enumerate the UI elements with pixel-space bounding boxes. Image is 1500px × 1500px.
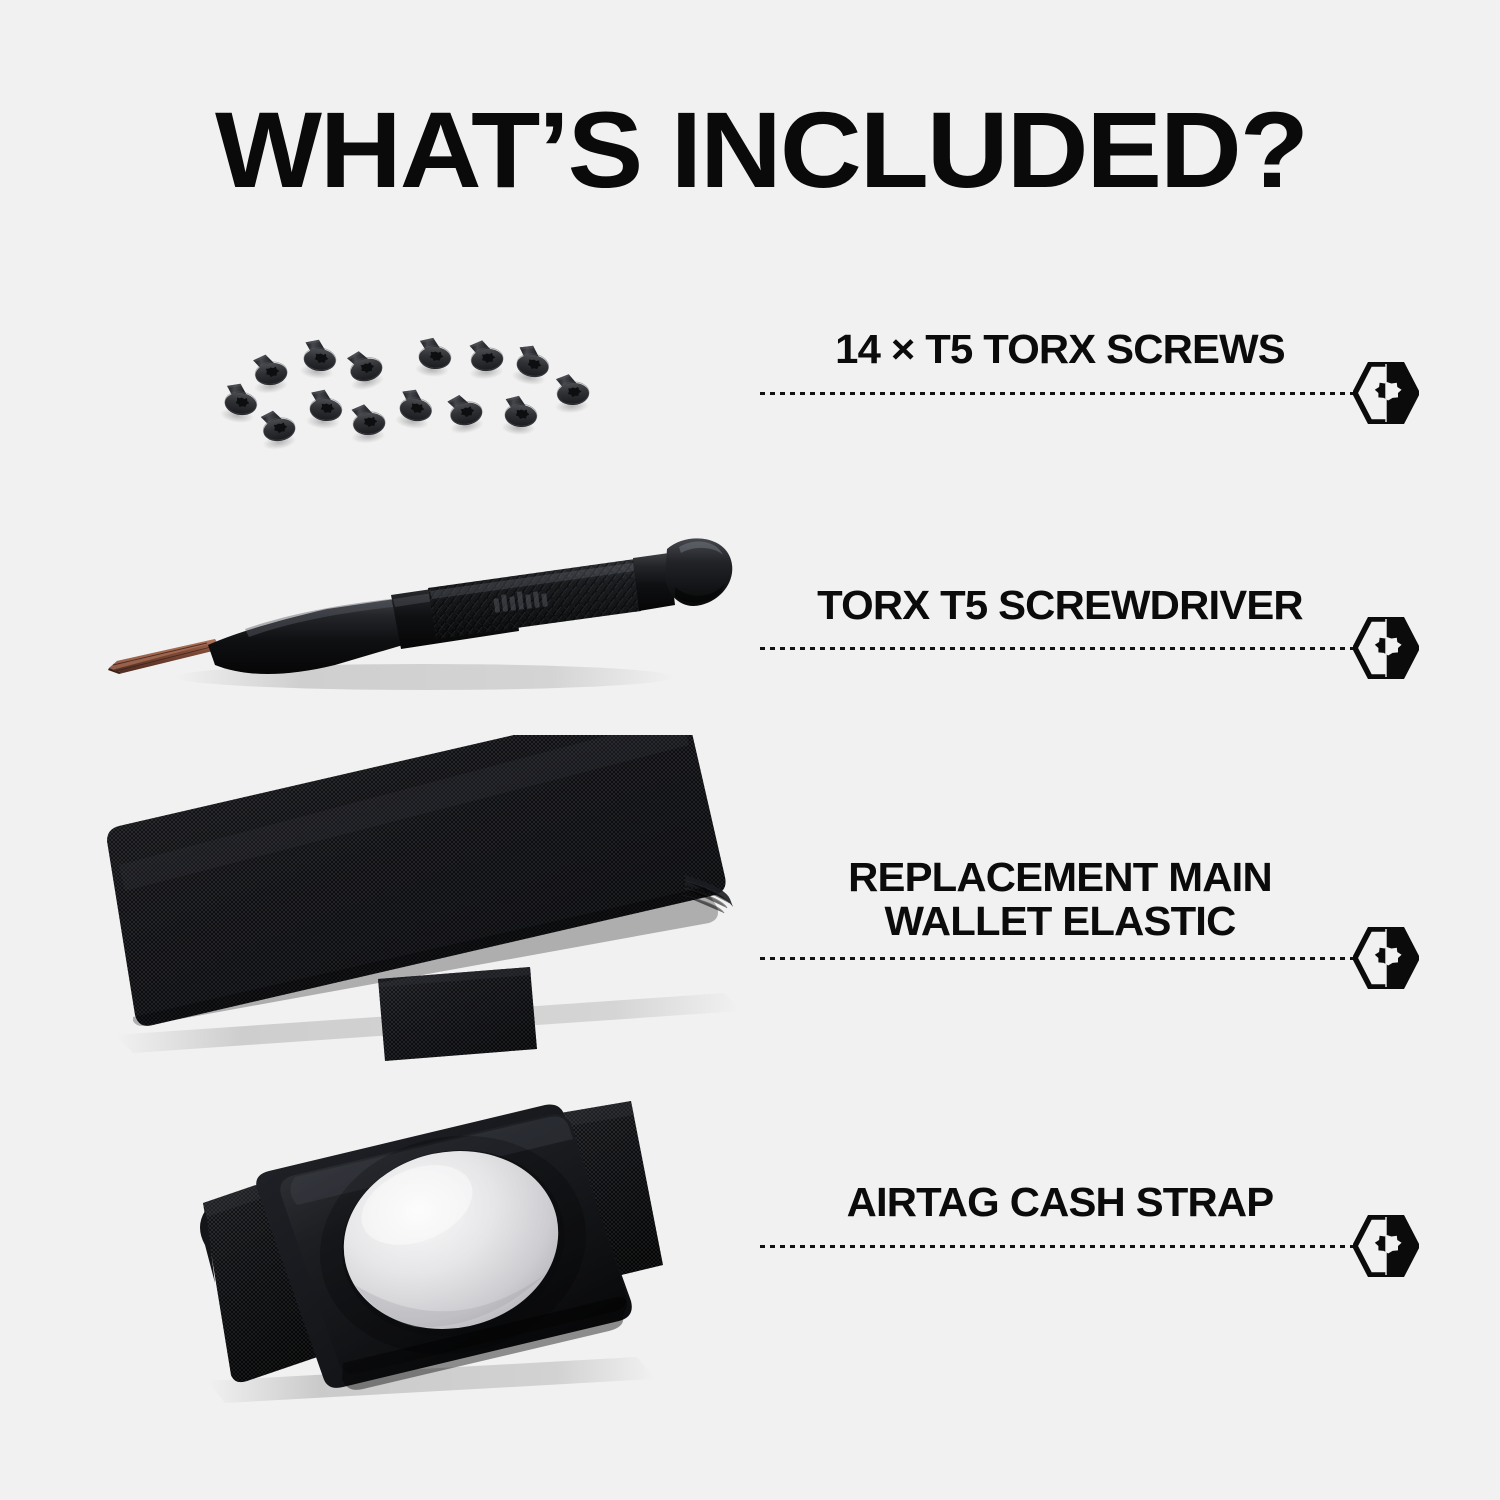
item-label-line: WALLET ELASTIC <box>754 899 1366 943</box>
item-label-screwdriver: TORX T5 SCREWDRIVER <box>754 583 1366 627</box>
item-label-line: REPLACEMENT MAIN <box>754 855 1366 899</box>
torx-hex-icon <box>1353 927 1419 989</box>
torx-hex-icon <box>1353 362 1419 424</box>
torx-hex-icon <box>1353 617 1419 679</box>
leader-line-screwdriver <box>760 647 1357 650</box>
item-label-wallet-elastic: REPLACEMENT MAIN WALLET ELASTIC <box>754 855 1366 944</box>
item-label-line: 14 × T5 TORX SCREWS <box>835 326 1285 372</box>
leader-line-airtag-strap <box>760 1245 1357 1248</box>
airtag-cash-strap-photo <box>185 1095 685 1420</box>
torx-t5-screwdriver-photo <box>95 525 740 705</box>
torx-hex-icon <box>1353 1215 1419 1277</box>
item-label-airtag-strap: AIRTAG CASH STRAP <box>754 1180 1366 1224</box>
leader-line-screws <box>760 392 1357 395</box>
leader-line-wallet-elastic <box>760 957 1357 960</box>
replacement-wallet-elastic-photo <box>85 735 785 1065</box>
infographic-canvas: WHAT’S INCLUDED? <box>0 0 1500 1500</box>
t5-torx-screws-photo <box>205 330 625 470</box>
item-label-screws: 14 × T5 TORX SCREWS <box>754 327 1366 371</box>
item-label-line: TORX T5 SCREWDRIVER <box>817 582 1303 628</box>
item-label-line: AIRTAG CASH STRAP <box>847 1179 1274 1225</box>
page-title: WHAT’S INCLUDED? <box>215 96 1307 204</box>
